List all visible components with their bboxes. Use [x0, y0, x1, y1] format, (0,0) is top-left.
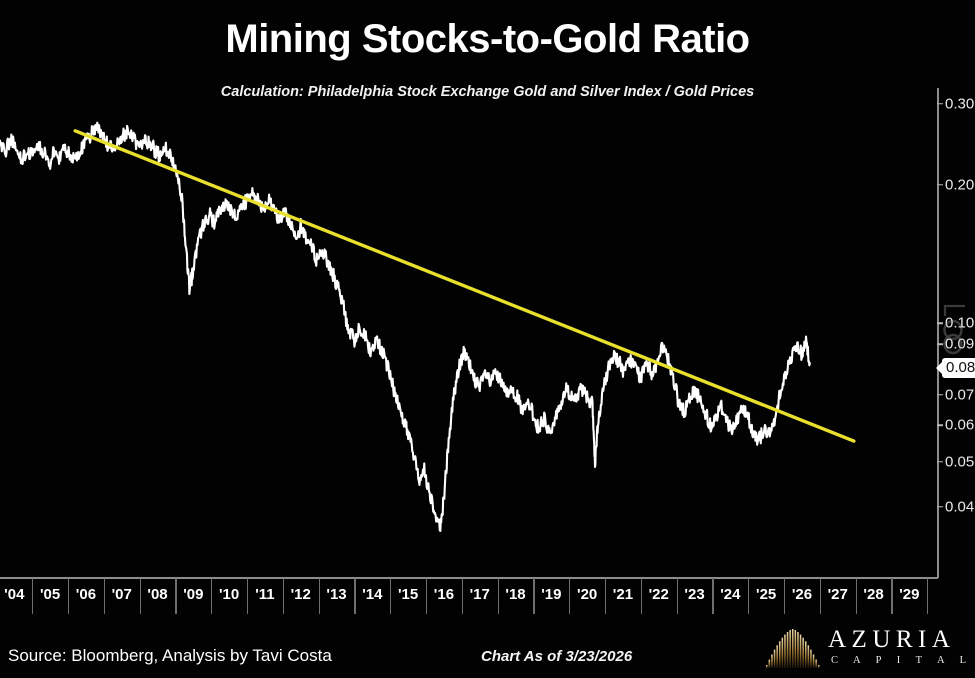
x-tick-label: '24: [720, 587, 740, 602]
y-tick-label: 0.20: [945, 177, 974, 192]
x-tick-separator: [820, 578, 821, 614]
x-tick-label: '14: [362, 587, 382, 602]
x-tick-label: '09: [183, 587, 203, 602]
x-tick-label: '11: [255, 587, 274, 602]
x-tick-label: '19: [541, 587, 561, 602]
x-tick-separator: [784, 578, 785, 614]
x-tick-label: '16: [434, 587, 454, 602]
logo-tagline: C A P I T A L: [831, 656, 973, 667]
x-tick-label: '26: [792, 587, 812, 602]
x-tick-separator: [32, 578, 33, 614]
chart-as-of-date: Chart As of 3/23/2026: [481, 648, 632, 665]
x-tick-separator: [569, 578, 570, 614]
axis-overlay-glyph: [941, 300, 969, 358]
y-tick-mark: [937, 394, 943, 396]
x-tick-separator: [68, 578, 69, 614]
x-tick-separator: [641, 578, 642, 614]
logo-wordmark: AZURIA: [828, 627, 955, 652]
x-tick-label: '06: [76, 587, 96, 602]
x-tick-label: '12: [291, 587, 311, 602]
x-tick-label: '25: [756, 587, 776, 602]
x-tick-separator: [247, 578, 248, 614]
x-tick-separator: [498, 578, 499, 614]
x-tick-label: '07: [112, 587, 132, 602]
x-tick-separator: [175, 578, 176, 614]
plot-area: [0, 86, 938, 578]
x-tick-label: '20: [577, 587, 597, 602]
y-tick-mark: [937, 506, 943, 508]
x-tick-label: '18: [505, 587, 525, 602]
x-tick-label: '21: [613, 587, 633, 602]
x-tick-separator: [677, 578, 678, 614]
source-credit: Source: Bloomberg, Analysis by Tavi Cost…: [8, 646, 332, 666]
x-tick-separator: [426, 578, 427, 614]
x-tick-label: '29: [899, 587, 919, 602]
y-tick-mark: [937, 184, 943, 186]
x-tick-separator: [856, 578, 857, 614]
x-tick-separator: [211, 578, 212, 614]
price-series-line: [0, 123, 810, 531]
x-tick-separator: [927, 578, 928, 614]
azuria-fan-mark: [762, 628, 824, 670]
x-tick-label: '04: [4, 587, 24, 602]
x-tick-label: '10: [219, 587, 239, 602]
x-tick-separator: [462, 578, 463, 614]
y-tick-label: 0.07: [945, 387, 974, 402]
x-tick-label: '22: [649, 587, 669, 602]
x-tick-label: '13: [326, 587, 346, 602]
x-tick-separator: [390, 578, 391, 614]
x-tick-separator: [748, 578, 749, 614]
y-tick-mark: [937, 103, 943, 105]
x-tick-separator: [712, 578, 713, 614]
azuria-capital-logo: AZURIA C A P I T A L: [762, 626, 968, 672]
x-tick-separator: [140, 578, 141, 614]
x-tick-separator: [605, 578, 606, 614]
x-tick-separator: [354, 578, 355, 614]
x-tick-separator: [319, 578, 320, 614]
x-tick-separator: [533, 578, 534, 614]
x-tick-label: '23: [684, 587, 704, 602]
chart-root: Mining Stocks-to-Gold Ratio Calculation:…: [0, 0, 975, 678]
x-tick-label: '15: [398, 587, 418, 602]
y-tick-label: 0.30: [945, 96, 974, 111]
y-tick-label: 0.04: [945, 499, 974, 514]
current-value-badge: 0.08: [942, 358, 975, 378]
y-tick-label: 0.05: [945, 454, 974, 469]
x-tick-separator: [283, 578, 284, 614]
page-title: Mining Stocks-to-Gold Ratio: [0, 18, 975, 60]
x-tick-separator: [891, 578, 892, 614]
y-tick-mark: [937, 425, 943, 427]
x-axis-band: '04'05'06'07'08'09'10'11'12'13'14'15'16'…: [0, 578, 938, 614]
series-canvas: [0, 86, 938, 578]
x-tick-label: '08: [147, 587, 167, 602]
y-tick-label: 0.06: [945, 418, 974, 433]
y-tick-mark: [937, 461, 943, 463]
y-axis-line: [937, 88, 939, 578]
x-tick-label: '05: [40, 587, 60, 602]
x-tick-label: '28: [863, 587, 883, 602]
x-tick-label: '17: [470, 587, 490, 602]
x-tick-separator: [104, 578, 105, 614]
x-tick-label: '27: [828, 587, 848, 602]
